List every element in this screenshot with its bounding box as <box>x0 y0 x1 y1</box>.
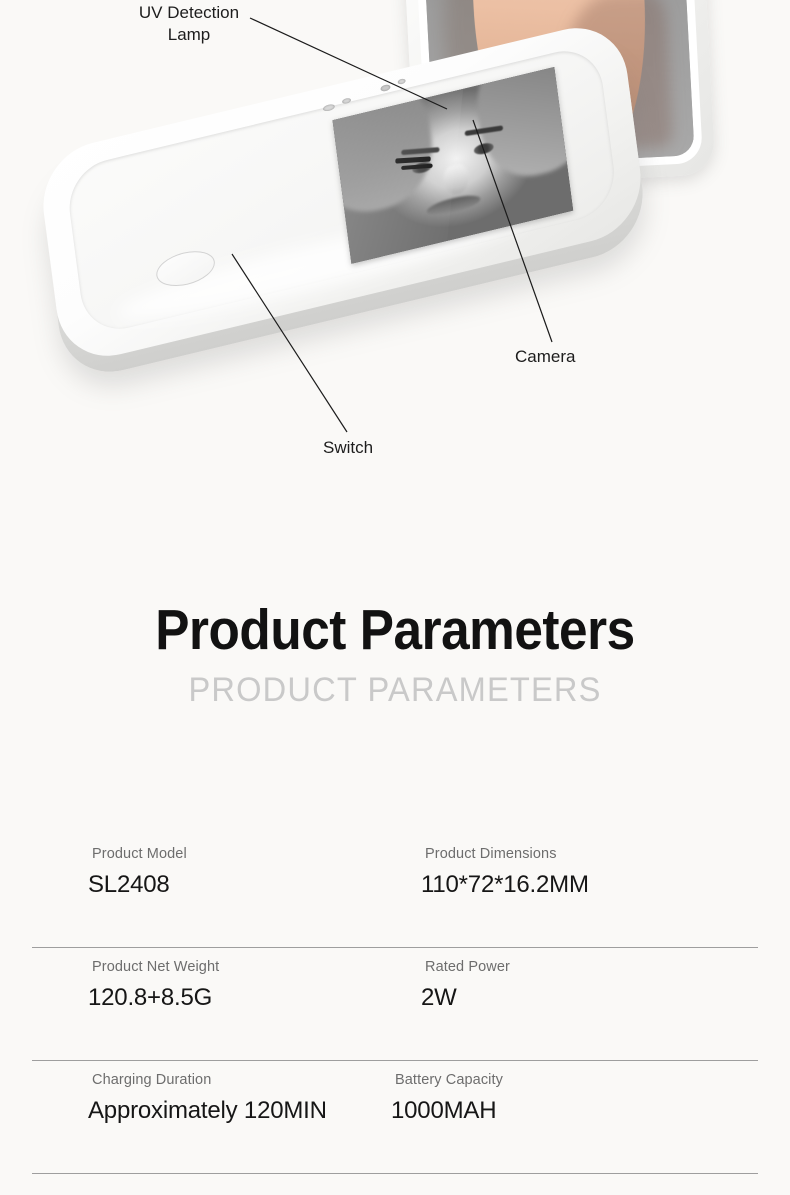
camera-sensor-hole <box>397 78 405 85</box>
product-hero-image: UV Detection Lamp Camera Switch <box>0 0 790 575</box>
callout-label-uv-detection-lamp: UV Detection Lamp <box>122 2 256 46</box>
section-subtitle: PRODUCT PARAMETERS <box>16 662 774 709</box>
specifications-table: Product Model SL2408 Product Dimensions … <box>0 835 790 1174</box>
spec-label: Product Dimensions <box>421 845 589 863</box>
spec-value: 120.8+8.5G <box>88 976 219 1013</box>
spec-value: 2W <box>421 976 510 1013</box>
table-row: Charging Duration Approximately 120MIN B… <box>32 1061 758 1174</box>
spec-cell-product-net-weight: Product Net Weight 120.8+8.5G <box>88 958 219 1013</box>
spec-cell-rated-power: Rated Power 2W <box>421 958 510 1013</box>
spec-value: Approximately 120MIN <box>88 1089 327 1126</box>
callout-label-camera: Camera <box>515 346 575 368</box>
spec-cell-charging-duration: Charging Duration Approximately 120MIN <box>88 1071 327 1126</box>
camera-lens-hole <box>380 84 391 92</box>
spec-value: 1000MAH <box>391 1089 503 1126</box>
device-base-unit <box>36 16 647 367</box>
spec-label: Rated Power <box>421 958 510 976</box>
spec-value: SL2408 <box>88 863 187 900</box>
callout-label-switch: Switch <box>323 437 373 459</box>
spec-cell-battery-capacity: Battery Capacity 1000MAH <box>391 1071 503 1126</box>
section-title: Product Parameters <box>40 575 751 662</box>
table-row: Product Net Weight 120.8+8.5G Rated Powe… <box>32 948 758 1061</box>
spec-label: Charging Duration <box>88 1071 327 1089</box>
spec-value: 110*72*16.2MM <box>421 863 589 900</box>
spec-label: Product Net Weight <box>88 958 219 976</box>
spec-label: Battery Capacity <box>391 1071 503 1089</box>
product-parameters-section: Product Parameters PRODUCT PARAMETERS Pr… <box>0 575 790 709</box>
spec-cell-product-dimensions: Product Dimensions 110*72*16.2MM <box>421 845 589 900</box>
table-row: Product Model SL2408 Product Dimensions … <box>32 835 758 948</box>
spec-label: Product Model <box>88 845 187 863</box>
spec-cell-product-model: Product Model SL2408 <box>88 845 187 900</box>
product-detail-page: UV Detection Lamp Camera Switch Product … <box>0 0 790 1195</box>
